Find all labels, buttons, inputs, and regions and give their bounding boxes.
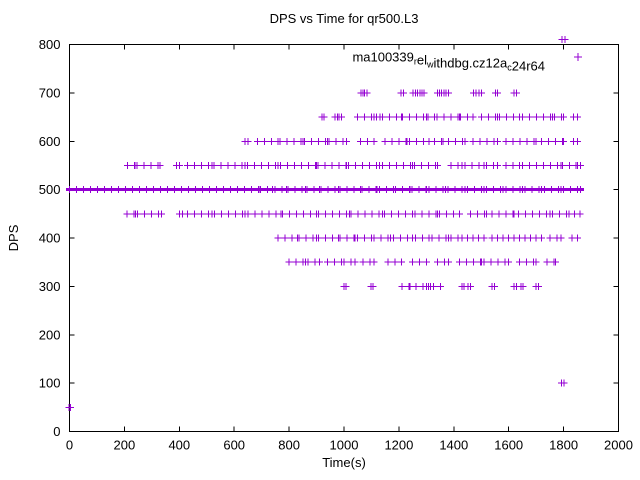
- dps-vs-time-scatter-plot: 0100200300400500600700800020040060080010…: [0, 0, 640, 480]
- data-band-700: [358, 89, 520, 96]
- x-tick-label: 1000: [330, 438, 359, 453]
- x-tick-label: 600: [223, 438, 245, 453]
- y-tick-label: 300: [39, 279, 61, 294]
- data-band-350: [286, 259, 559, 266]
- x-tick-label: 1600: [494, 438, 523, 453]
- x-tick-label: 1400: [439, 438, 468, 453]
- x-tick-label: 0: [66, 438, 73, 453]
- data-band-600: [242, 138, 581, 145]
- data-band-650: [319, 114, 581, 121]
- data-band-100: [558, 380, 567, 387]
- legend-sample-marker: [574, 53, 582, 61]
- data-band-810: [559, 36, 569, 43]
- y-tick-label: 500: [39, 182, 61, 197]
- x-tick-label: 1800: [549, 438, 578, 453]
- data-band-450: [124, 210, 584, 217]
- data-band-400: [275, 235, 581, 242]
- y-tick-label: 400: [39, 231, 61, 246]
- x-tick-label: 400: [168, 438, 190, 453]
- chart-title: DPS vs Time for qr500.L3: [270, 11, 419, 26]
- data-band-550: [124, 162, 584, 169]
- y-tick-label: 700: [39, 85, 61, 100]
- y-tick-label: 0: [53, 424, 60, 439]
- y-tick-label: 100: [39, 376, 61, 391]
- data-points-layer: [65, 36, 584, 411]
- data-band-500: [66, 186, 584, 193]
- y-tick-label: 800: [39, 37, 61, 52]
- x-tick-label: 800: [278, 438, 300, 453]
- x-tick-label: 200: [114, 438, 136, 453]
- chart-container: 0100200300400500600700800020040060080010…: [0, 0, 640, 480]
- legend-label: ma100339relwithdbg.cz12ac24r64: [352, 50, 545, 74]
- y-tick-label: 200: [39, 327, 61, 342]
- x-tick-label: 1200: [384, 438, 413, 453]
- x-tick-label: 2000: [604, 438, 633, 453]
- y-tick-label: 600: [39, 134, 61, 149]
- text-layer: 0100200300400500600700800020040060080010…: [6, 11, 633, 470]
- x-axis-label: Time(s): [322, 455, 366, 470]
- data-band-300: [341, 283, 542, 290]
- y-axis-label: DPS: [6, 224, 21, 251]
